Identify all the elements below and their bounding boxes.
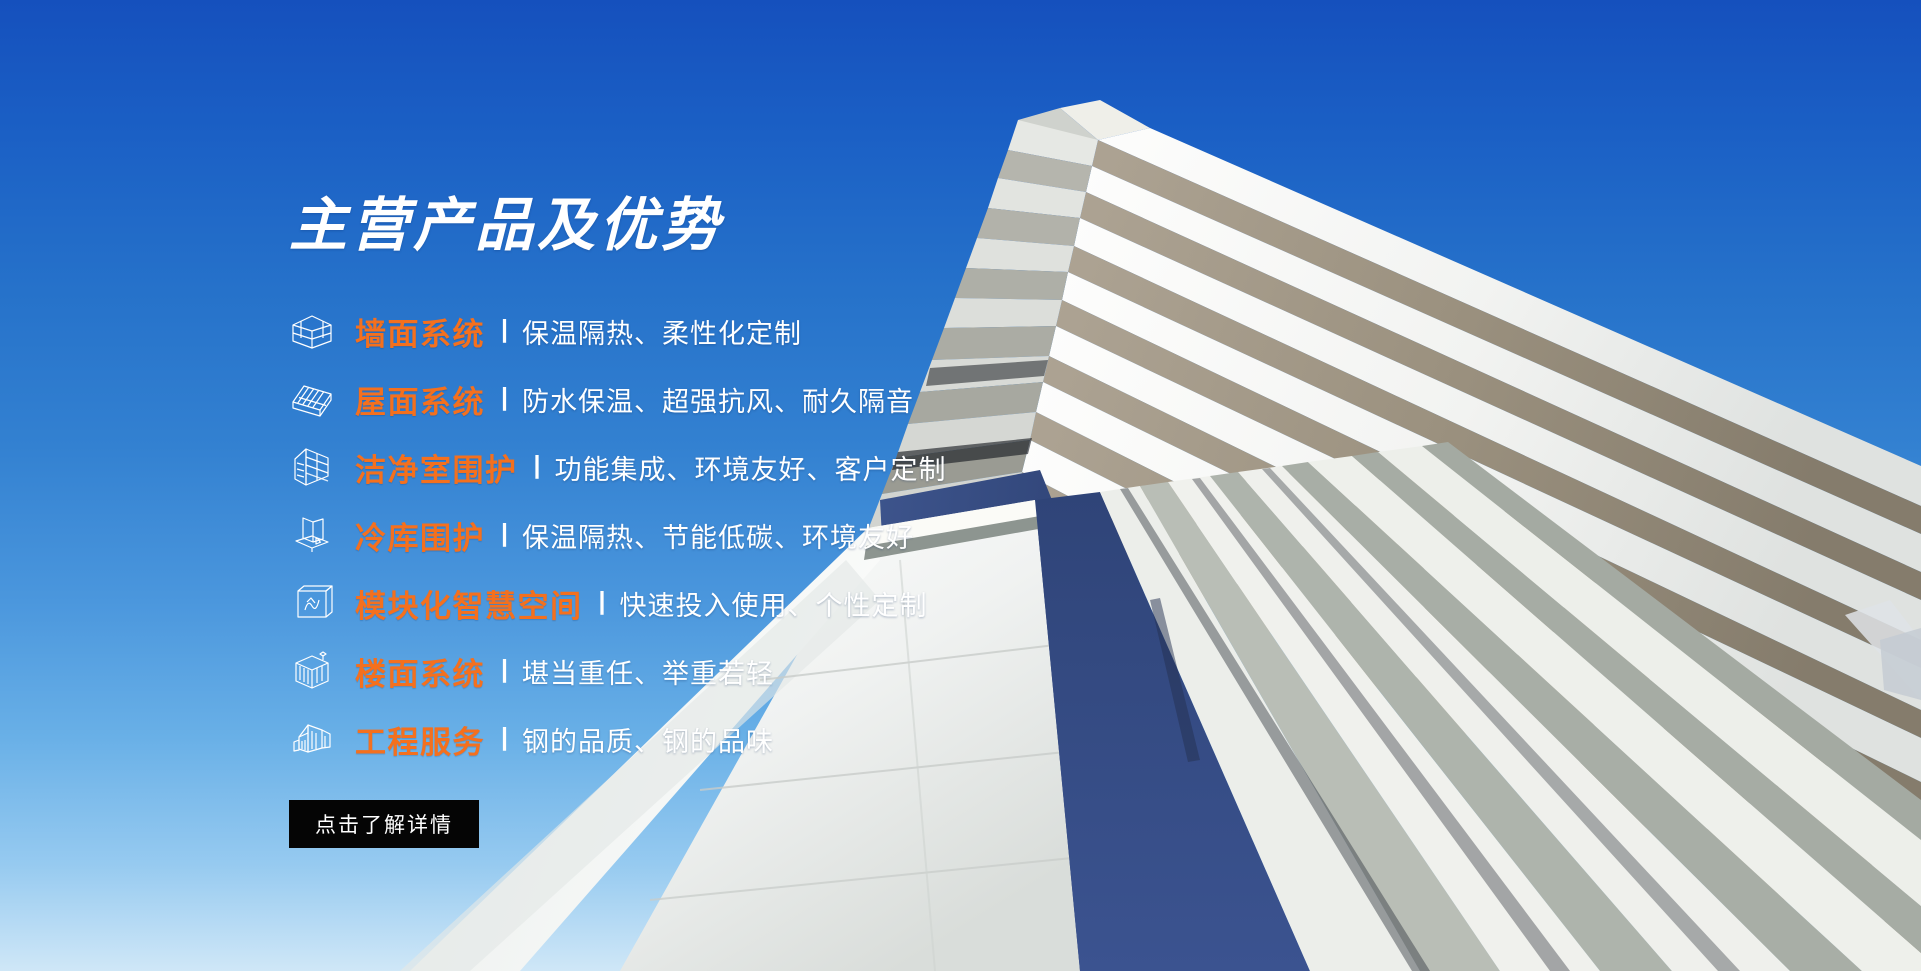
learn-more-button[interactable]: 点击了解详情 [289, 800, 479, 848]
feature-desc: 快速投入使用、个性定制 [620, 584, 928, 623]
feature-desc: 功能集成、环境友好、客户定制 [555, 448, 947, 487]
floor-system-icon [289, 648, 335, 694]
feature-row-floor-system[interactable]: 楼面系统 | 堪当重任、举重若轻 [289, 637, 1109, 705]
feature-desc: 防水保温、超强抗风、耐久隔音 [522, 380, 914, 419]
feature-separator: | [501, 383, 508, 412]
feature-row-wall-system[interactable]: 墙面系统 | 保温隔热、柔性化定制 [289, 297, 1109, 365]
feature-separator: | [501, 655, 508, 684]
hero-banner: 主营产品及优势 墙面系统 | 保温隔热、柔性化定制 [0, 0, 1921, 971]
feature-title: 工程服务 [355, 717, 485, 762]
feature-desc: 堪当重任、举重若轻 [522, 652, 774, 691]
feature-row-roof-system[interactable]: 屋面系统 | 防水保温、超强抗风、耐久隔音 [289, 365, 1109, 433]
feature-title: 墙面系统 [355, 309, 485, 354]
wall-system-icon [289, 308, 335, 354]
feature-row-cold-storage[interactable]: 冷库围护 | 保温隔热、节能低碳、环境友好 [289, 501, 1109, 569]
feature-separator: | [534, 451, 541, 480]
feature-separator: | [501, 519, 508, 548]
feature-desc: 保温隔热、柔性化定制 [522, 312, 802, 351]
roof-system-icon [289, 376, 335, 422]
feature-title: 楼面系统 [355, 649, 485, 694]
feature-title: 模块化智慧空间 [355, 581, 583, 626]
feature-desc: 保温隔热、节能低碳、环境友好 [522, 516, 914, 555]
feature-separator: | [501, 315, 508, 344]
feature-row-engineering-service[interactable]: 工程服务 | 钢的品质、钢的品味 [289, 705, 1109, 773]
cleanroom-envelope-icon [289, 444, 335, 490]
feature-separator: | [599, 587, 606, 616]
modular-space-icon [289, 580, 335, 626]
hero-content: 主营产品及优势 墙面系统 | 保温隔热、柔性化定制 [0, 0, 1100, 971]
feature-row-cleanroom-envelope[interactable]: 洁净室围护 | 功能集成、环境友好、客户定制 [289, 433, 1109, 501]
cold-storage-icon [289, 512, 335, 558]
feature-title: 屋面系统 [355, 377, 485, 422]
product-feature-list: 墙面系统 | 保温隔热、柔性化定制 [289, 297, 1109, 773]
feature-separator: | [501, 723, 508, 752]
feature-title: 冷库围护 [355, 513, 485, 558]
feature-row-modular-space[interactable]: 模块化智慧空间 | 快速投入使用、个性定制 [289, 569, 1109, 637]
feature-desc: 钢的品质、钢的品味 [522, 720, 774, 759]
engineering-service-icon [289, 716, 335, 762]
feature-title: 洁净室围护 [355, 445, 518, 490]
page-title: 主营产品及优势 [289, 197, 723, 255]
